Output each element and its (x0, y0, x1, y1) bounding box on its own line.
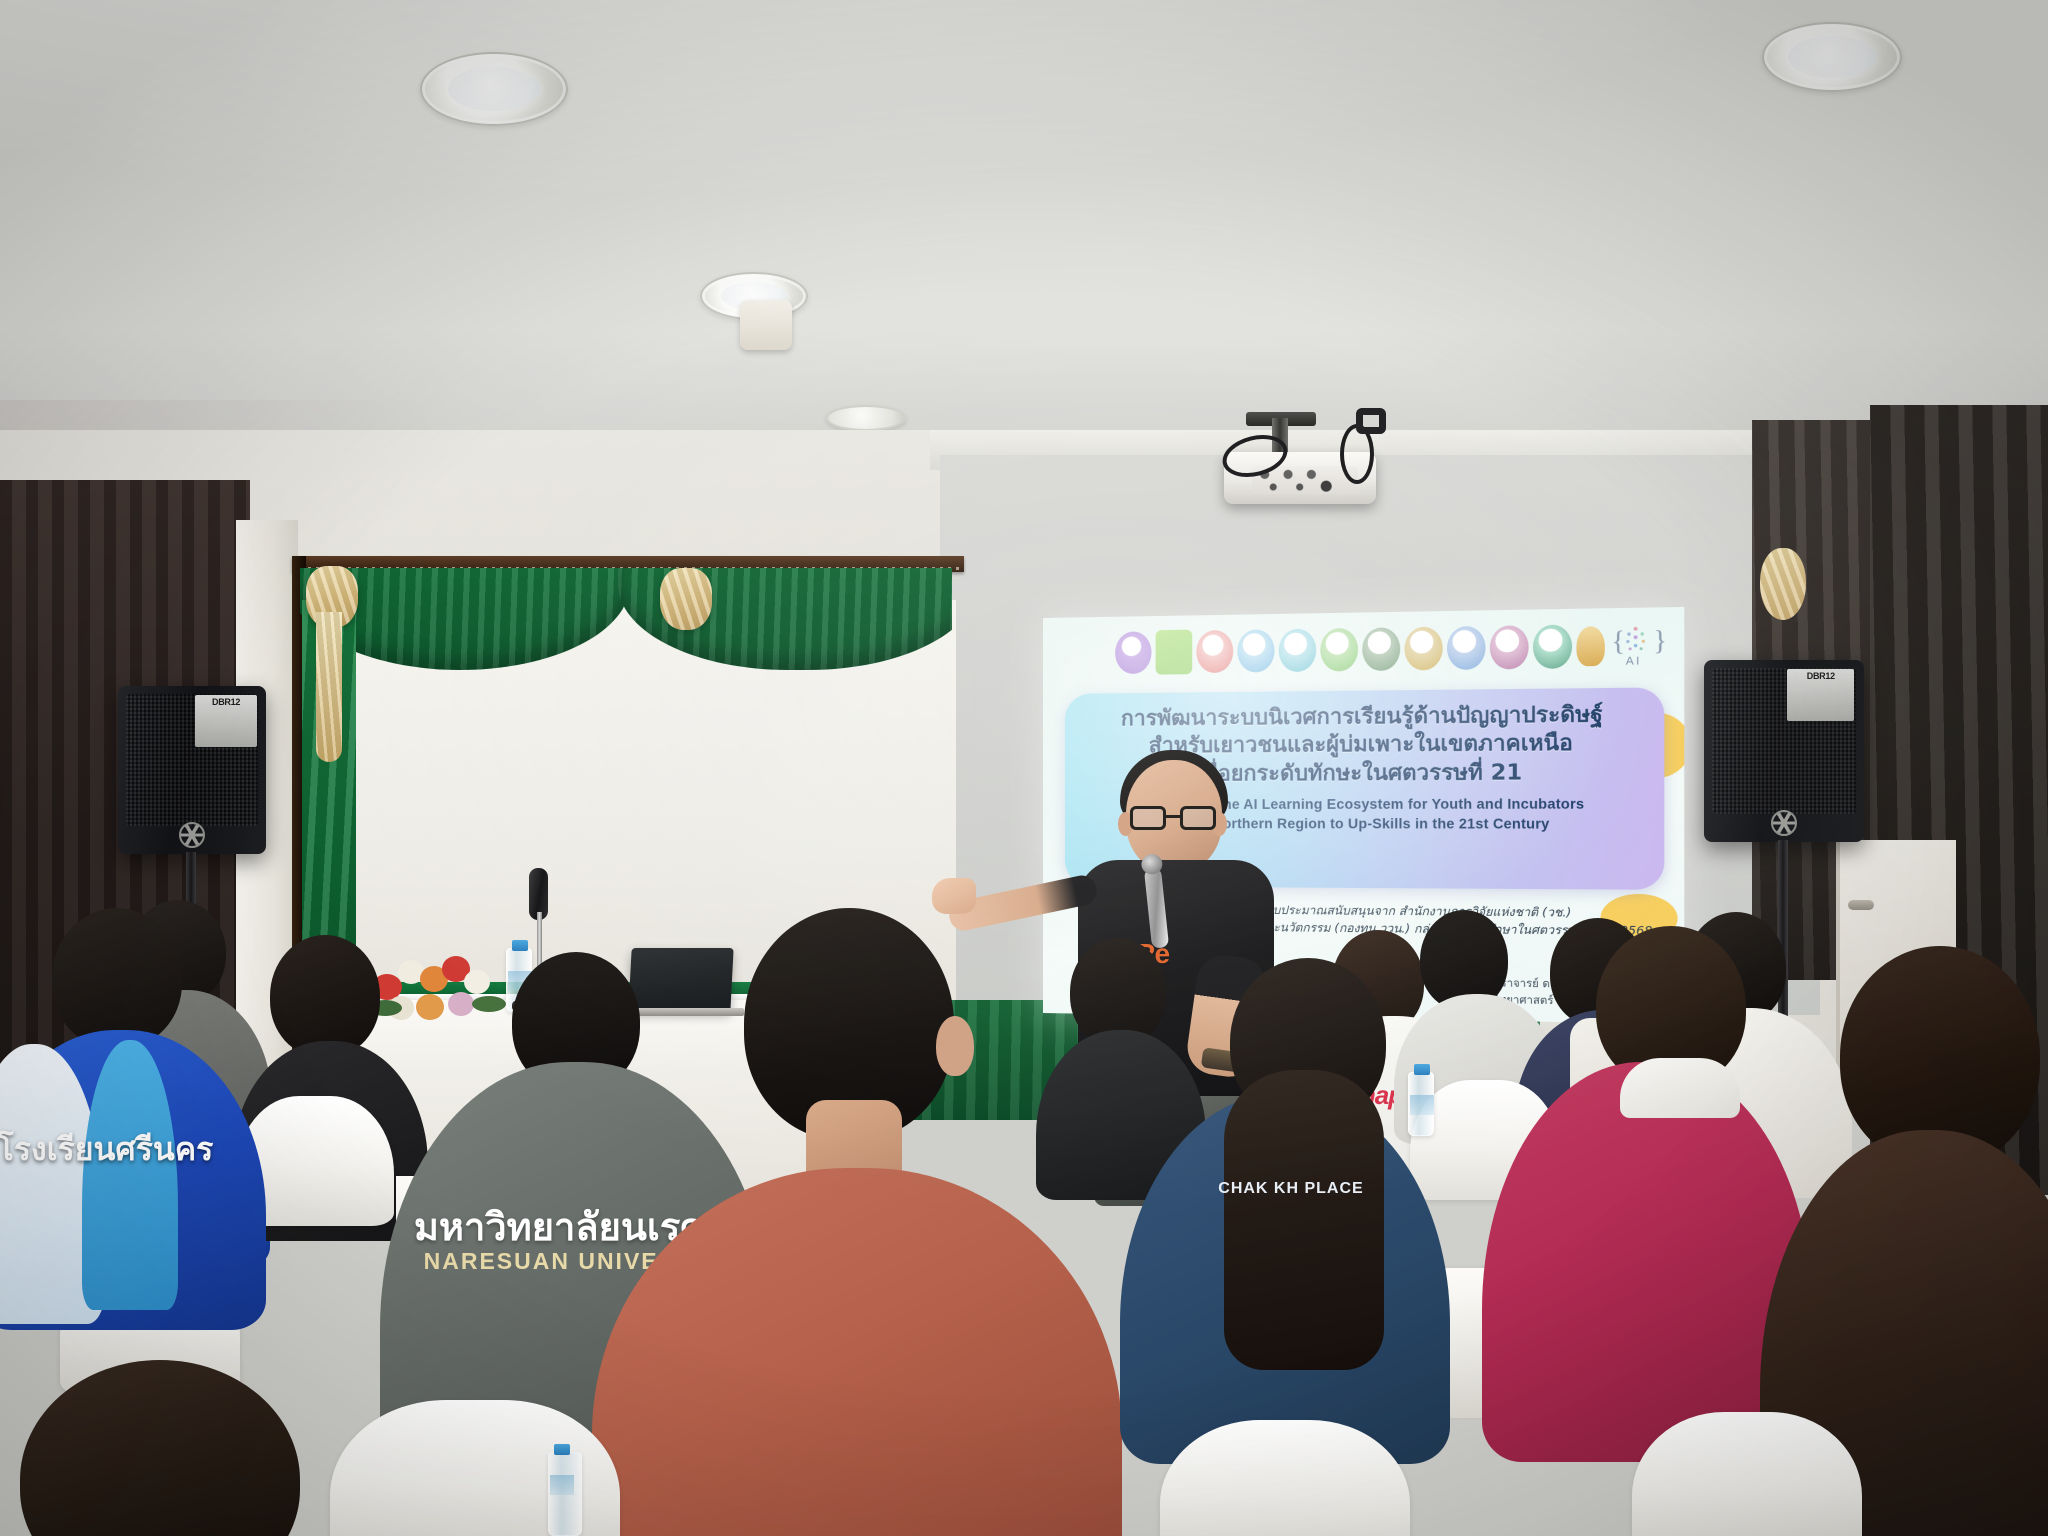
chair-back (1632, 1412, 1862, 1536)
head (270, 935, 380, 1057)
conference-presentation-photo: { } AI การพัฒนาระบบนิเวศการเรียนรู้ด้านป… (0, 0, 2048, 1536)
ceiling-speaker (826, 405, 906, 431)
ai-logo-icon: { } AI (1605, 616, 1667, 672)
svg-text:{: { (1611, 626, 1626, 657)
laptop-screen[interactable] (628, 948, 733, 1012)
speaker-model-label: DBR12 (195, 695, 257, 747)
collar-white (1620, 1058, 1740, 1118)
speaker-model-label: DBR12 (1787, 669, 1854, 721)
svg-text:}: } (1653, 625, 1664, 656)
flower-petal (416, 994, 444, 1020)
flower-petal (464, 970, 490, 994)
presenter-glasses (1130, 806, 1220, 830)
glasses-lens-left (1130, 806, 1166, 830)
partner-logo-row (1115, 623, 1631, 676)
gold-rosette (1760, 548, 1806, 620)
smoke-detector (740, 300, 792, 350)
yamaha-logo-icon (179, 822, 205, 848)
partner-logo-icon (1447, 626, 1486, 670)
glasses-lens-right (1180, 806, 1216, 830)
partner-logo-icon (1279, 629, 1316, 672)
presenter-open-hand (932, 878, 976, 914)
water-bottle[interactable] (548, 1452, 582, 1536)
flower-petal (448, 992, 474, 1016)
yamaha-logo-icon (1771, 810, 1797, 836)
partner-logo-icon (1576, 626, 1604, 666)
slide-title-thai-line1: การพัฒนาระบบนิเวศการเรียนรู้ด้านปัญญาประ… (1081, 700, 1647, 733)
pa-speaker-left: DBR12 (118, 686, 266, 854)
partner-logo-icon (1196, 630, 1233, 673)
gold-rosette (660, 568, 712, 630)
green-curtain-swag-group (300, 568, 952, 688)
partner-logo-icon (1320, 628, 1358, 672)
partner-logo-icon (1362, 627, 1400, 671)
partner-logo-icon (1237, 629, 1274, 672)
partner-logo-icon (1156, 630, 1193, 675)
gold-sash-tail (316, 612, 342, 762)
ear (936, 1016, 974, 1076)
shirt-label-chak: CHAK KH PLACE (1136, 1180, 1446, 1198)
flower-arrangement (368, 952, 508, 1016)
svg-text:AI: AI (1626, 655, 1642, 668)
shirt-label-school: โรงเรียนศรีนคร (0, 1124, 250, 1175)
partner-logo-icon (1404, 627, 1442, 671)
head (52, 908, 182, 1048)
door-handle[interactable] (1848, 900, 1874, 910)
ceiling-light (420, 52, 568, 126)
partner-logo-icon (1490, 625, 1529, 669)
projector-cable (1356, 408, 1386, 434)
water-bottle[interactable] (1408, 1072, 1434, 1136)
glasses-bridge (1166, 815, 1180, 818)
partner-logo-icon (1533, 625, 1572, 669)
partner-logo-icon (1115, 631, 1151, 674)
hair-over-shirt (1224, 1070, 1384, 1370)
laptop-base[interactable] (622, 1008, 744, 1016)
flower-leaf (472, 996, 506, 1012)
pa-speaker-right: DBR12 (1704, 660, 1864, 842)
ceiling-light (1762, 22, 1902, 92)
